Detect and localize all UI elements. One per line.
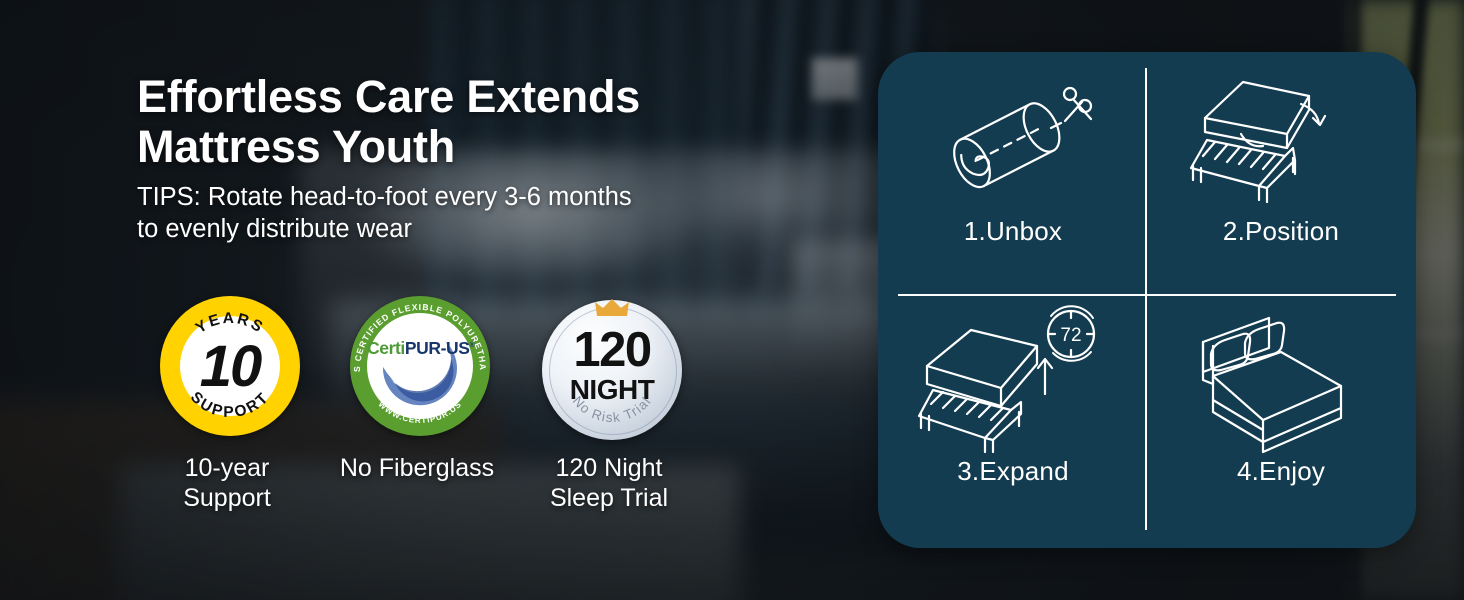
step-enjoy: 4.Enjoy xyxy=(1150,302,1412,532)
badge-caption: 10-year Support xyxy=(137,454,317,513)
badge-arc-bottom: No Risk Trial xyxy=(570,393,654,425)
badge-certipur-us: CONTAINS CERTIFIED FLEXIBLE POLYURETHANE… xyxy=(327,290,507,484)
left-content: Effortless Care Extends Mattress Youth T… xyxy=(0,0,880,600)
tips-subtitle: TIPS: Rotate head-to-foot every 3-6 mont… xyxy=(137,182,757,246)
certipur-badge-icon: CONTAINS CERTIFIED FLEXIBLE POLYURETHANE… xyxy=(342,290,492,442)
step-label: 3.Expand xyxy=(957,456,1068,487)
mattress-onto-frame-icon xyxy=(1181,62,1381,214)
certipur-word-navy: PUR-US xyxy=(405,338,470,358)
badge-120-night-trial: 120 NIGHT No Risk Trial 120 Night Sleep … xyxy=(519,290,699,513)
clock-hours-value: 72 xyxy=(1060,325,1081,346)
step-position: 2.Position xyxy=(1150,62,1412,292)
rolled-mattress-scissors-icon xyxy=(913,62,1113,214)
badge-number: 10 xyxy=(180,316,280,416)
registered-trademark-icon: ® xyxy=(470,342,475,349)
marketing-banner: Effortless Care Extends Mattress Youth T… xyxy=(0,0,1464,600)
mattress-expanding-72h-icon: 72 xyxy=(913,302,1113,454)
certipur-word-green: Certi xyxy=(367,338,405,358)
setup-steps-panel: 1.Unbox 2.Position xyxy=(878,52,1416,548)
ten-year-badge-icon: YEARS SUPPORT 10 xyxy=(152,290,302,442)
panel-divider-vertical xyxy=(1145,68,1147,530)
certipur-swoosh-icon xyxy=(367,313,473,419)
step-unbox: 1.Unbox xyxy=(882,62,1144,292)
page-title: Effortless Care Extends Mattress Youth xyxy=(137,72,777,173)
svg-text:No Risk Trial: No Risk Trial xyxy=(570,393,654,425)
trust-badges: YEARS SUPPORT 10 10-year Support xyxy=(137,290,737,540)
night-trial-badge-icon: 120 NIGHT No Risk Trial xyxy=(534,290,684,442)
step-label: 2.Position xyxy=(1223,216,1339,247)
badge-arc-text: No Risk Trial xyxy=(542,300,682,440)
panel-divider-horizontal xyxy=(898,294,1396,296)
made-bed-icon xyxy=(1181,302,1381,454)
step-label: 1.Unbox xyxy=(964,216,1062,247)
certipur-wordmark: CertiPUR-US® xyxy=(367,338,473,359)
step-label: 4.Enjoy xyxy=(1237,456,1325,487)
badge-caption: 120 Night Sleep Trial xyxy=(519,454,699,513)
badge-caption: No Fiberglass xyxy=(327,454,507,484)
badge-ten-year-support: YEARS SUPPORT 10 10-year Support xyxy=(137,290,317,513)
step-expand: 72 3.Expand xyxy=(882,302,1144,532)
